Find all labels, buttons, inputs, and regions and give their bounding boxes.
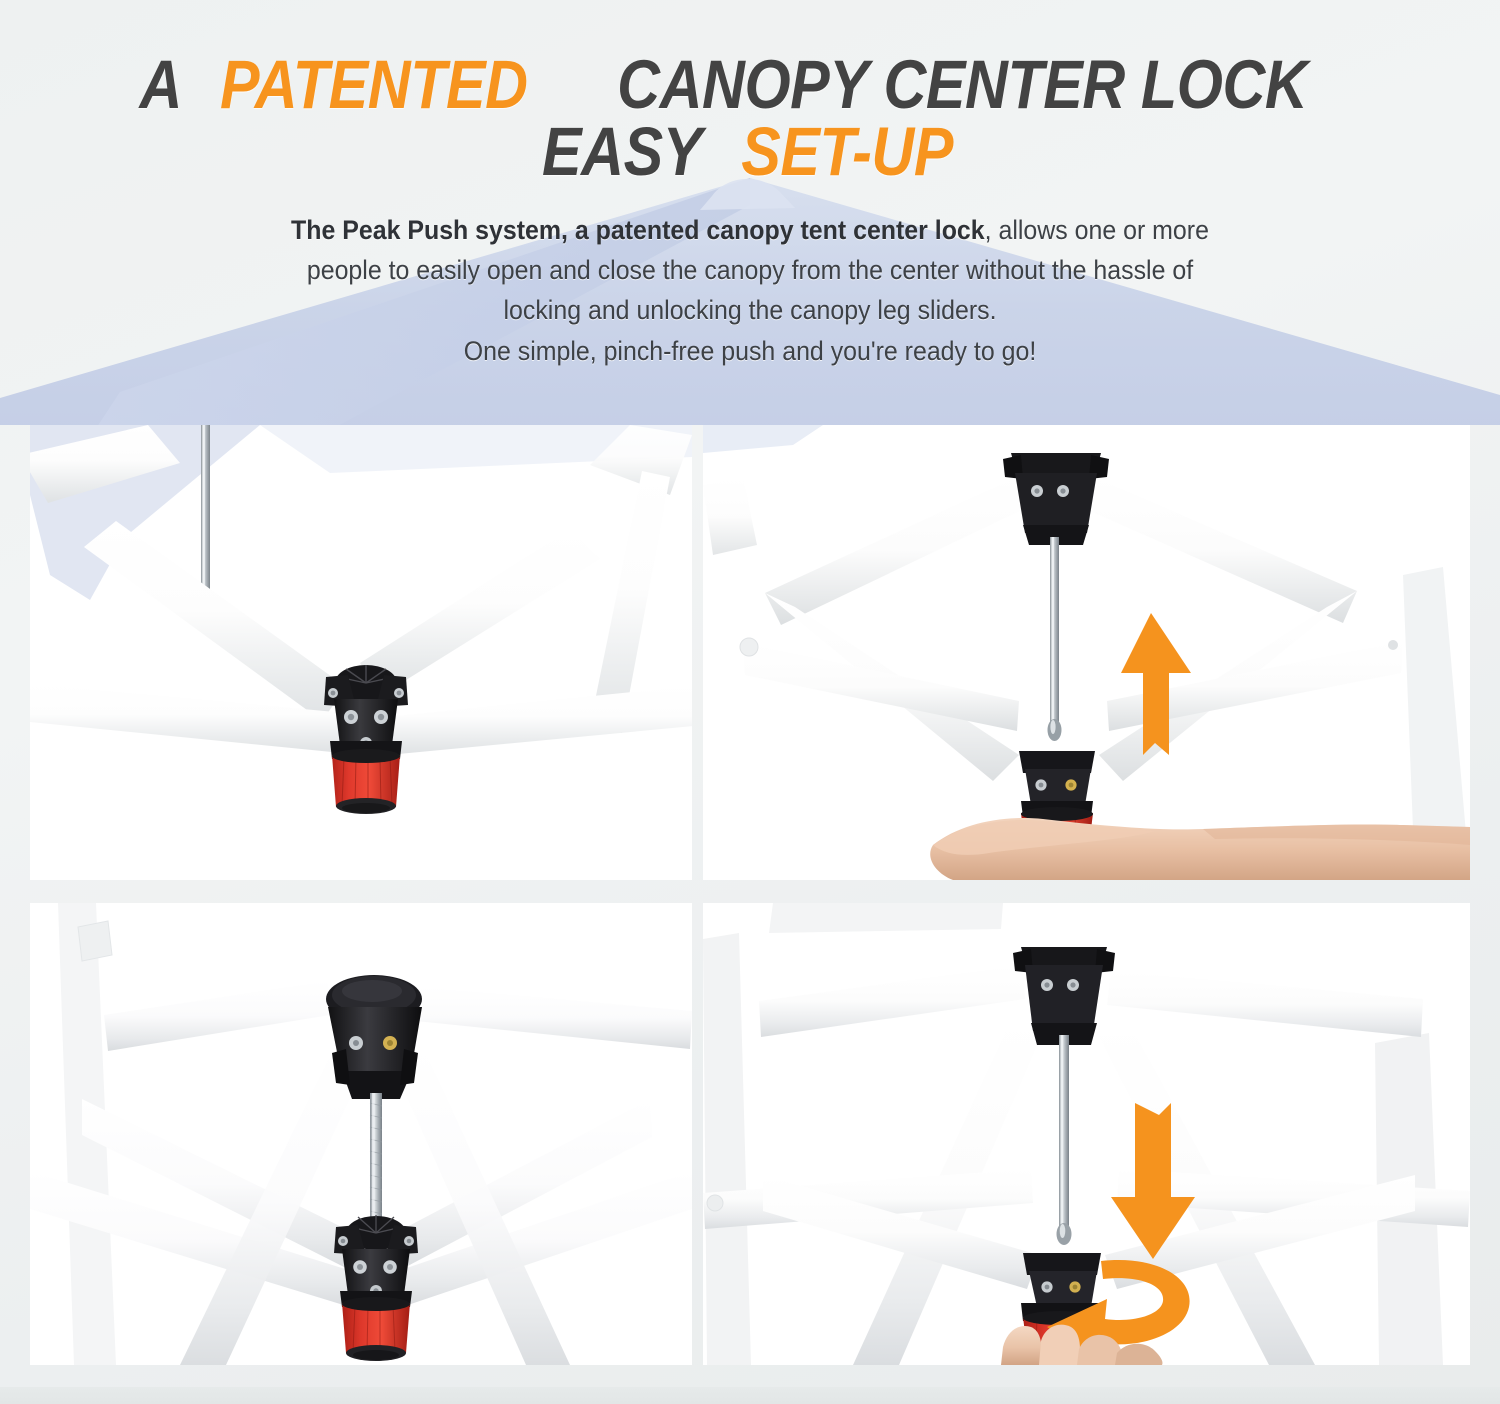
headline-line-1: A PATENTED CANOPY CENTER LOCK (0, 52, 1500, 119)
headline-word-easy: EASY (542, 119, 702, 186)
header-section: A PATENTED CANOPY CENTER LOCK EASY SET-U… (0, 0, 1500, 425)
red-knob (332, 749, 400, 814)
panel-bottom-right (703, 903, 1470, 1365)
black-top-hub (326, 975, 422, 1099)
headline-word-set-up: SET-UP (742, 119, 954, 186)
description-line-1: The Peak Push system, a patented canopy … (130, 210, 1371, 250)
photo-grid (0, 425, 1500, 1387)
description-line-1-rest: , allows one or more (985, 215, 1209, 245)
panel-top-left (30, 425, 692, 880)
headline-word-a: A (140, 52, 182, 119)
threaded-rod (370, 1093, 382, 1235)
black-lower-hub (334, 1215, 418, 1307)
headline-word-patented: PATENTED (220, 52, 528, 119)
description-line-3: locking and unlocking the canopy leg sli… (130, 290, 1371, 330)
description-paragraph: The Peak Push system, a patented canopy … (0, 210, 1500, 371)
description-line-2: people to easily open and close the cano… (130, 250, 1371, 290)
bottom-strip (0, 1387, 1500, 1404)
headline-word-canopy-center-lock: CANOPY CENTER LOCK (617, 52, 1307, 119)
black-hub (324, 665, 408, 759)
headline-line-2: EASY SET-UP (0, 119, 1500, 186)
red-knob (342, 1297, 410, 1361)
page-headline: A PATENTED CANOPY CENTER LOCK EASY SET-U… (0, 0, 1500, 186)
description-strong: The Peak Push system, a patented canopy … (291, 215, 985, 245)
panel-top-right (703, 425, 1470, 880)
panel-bottom-left (30, 903, 692, 1365)
description-line-4: One simple, pinch-free push and you're r… (130, 331, 1371, 371)
